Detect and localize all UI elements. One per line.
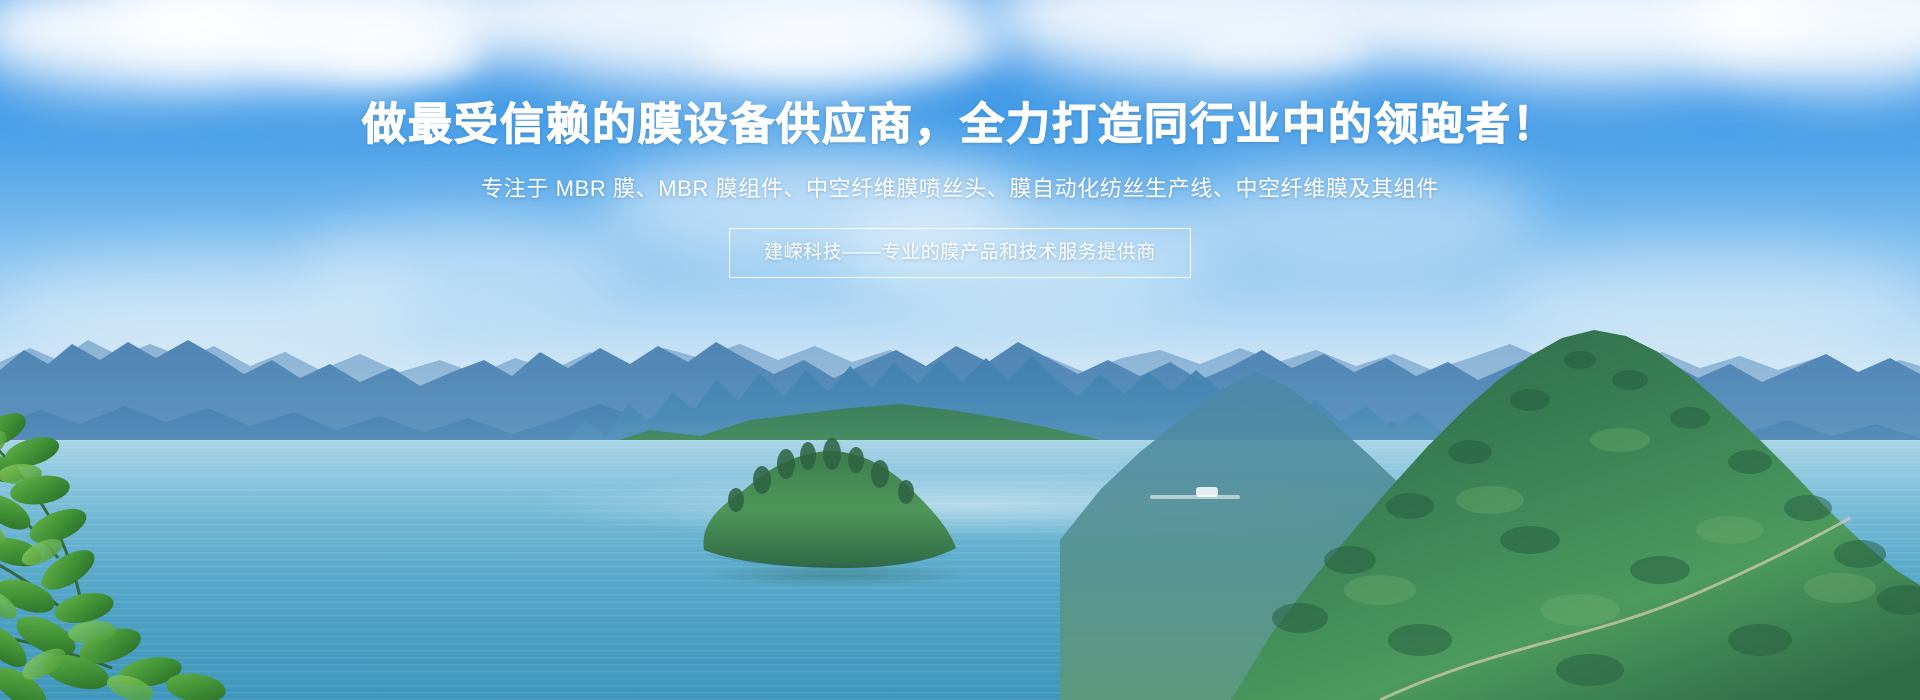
boat-wake (1150, 495, 1240, 499)
island-reflection (700, 562, 970, 588)
right-green-mountain (1060, 240, 1920, 700)
foreground-foliage (0, 400, 310, 700)
island (690, 430, 980, 570)
hero-banner: 做最受信赖的膜设备供应商，全力打造同行业中的领跑者！ 专注于 MBR 膜、MBR… (0, 0, 1920, 700)
